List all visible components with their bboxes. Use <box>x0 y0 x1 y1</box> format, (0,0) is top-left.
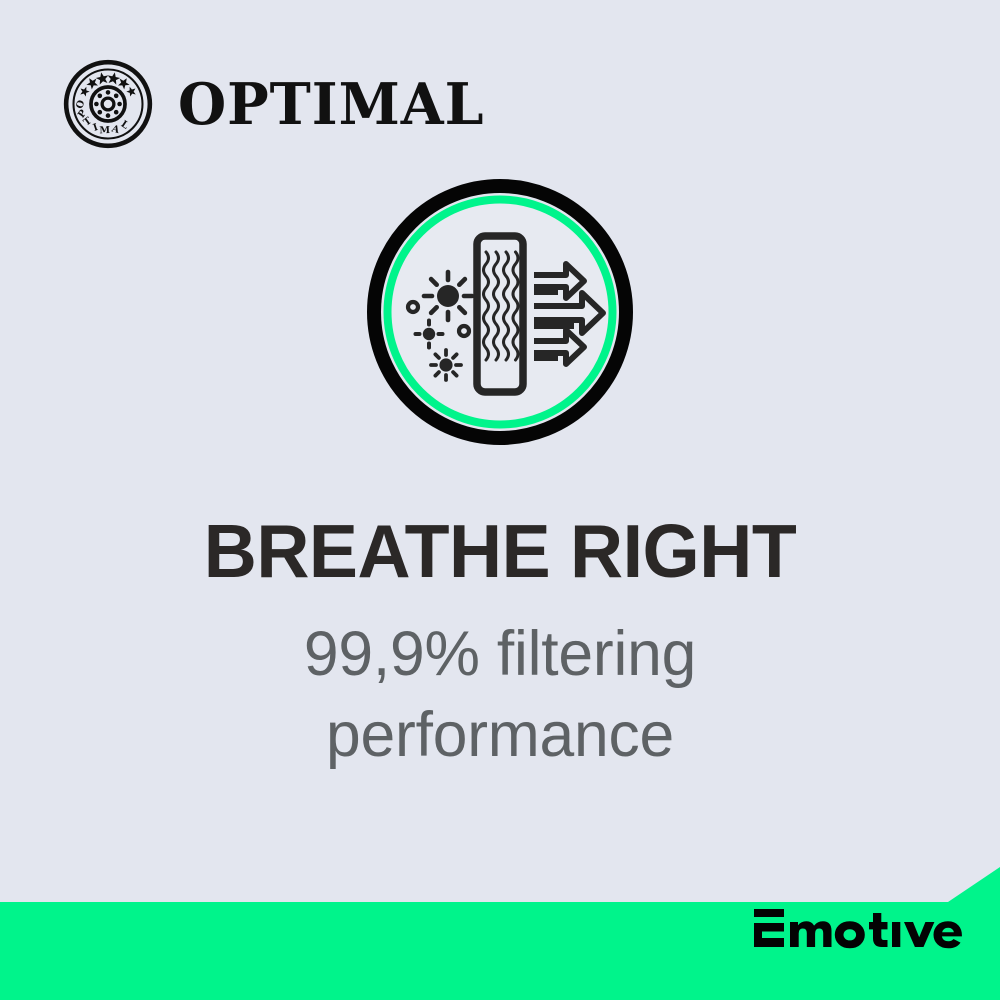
air-filter-badge-icon <box>366 176 634 448</box>
brand-header: O P T I M A L <box>62 58 494 150</box>
footer-band <box>0 855 1000 1000</box>
svg-text:L: L <box>119 119 131 132</box>
subtitle: 99,9% filtering performance <box>5 590 995 775</box>
subtitle-line-2: performance <box>5 695 995 776</box>
brand-wordmark: OPTIMAL <box>178 76 485 133</box>
svg-text:M: M <box>99 125 110 136</box>
optimal-badge-emblem-icon: O P T I M A L <box>62 58 154 150</box>
headline-block: BREATHE RIGHT 99,9% filtering performanc… <box>0 512 1000 775</box>
subtitle-line-1: 99,9% filtering <box>5 614 995 695</box>
hero-icon-container <box>0 176 1000 448</box>
poster-canvas: O P T I M A L <box>0 0 1000 1000</box>
page-title: BREATHE RIGHT <box>10 512 990 590</box>
svg-text:A: A <box>109 123 121 136</box>
svg-text:O: O <box>74 99 87 110</box>
